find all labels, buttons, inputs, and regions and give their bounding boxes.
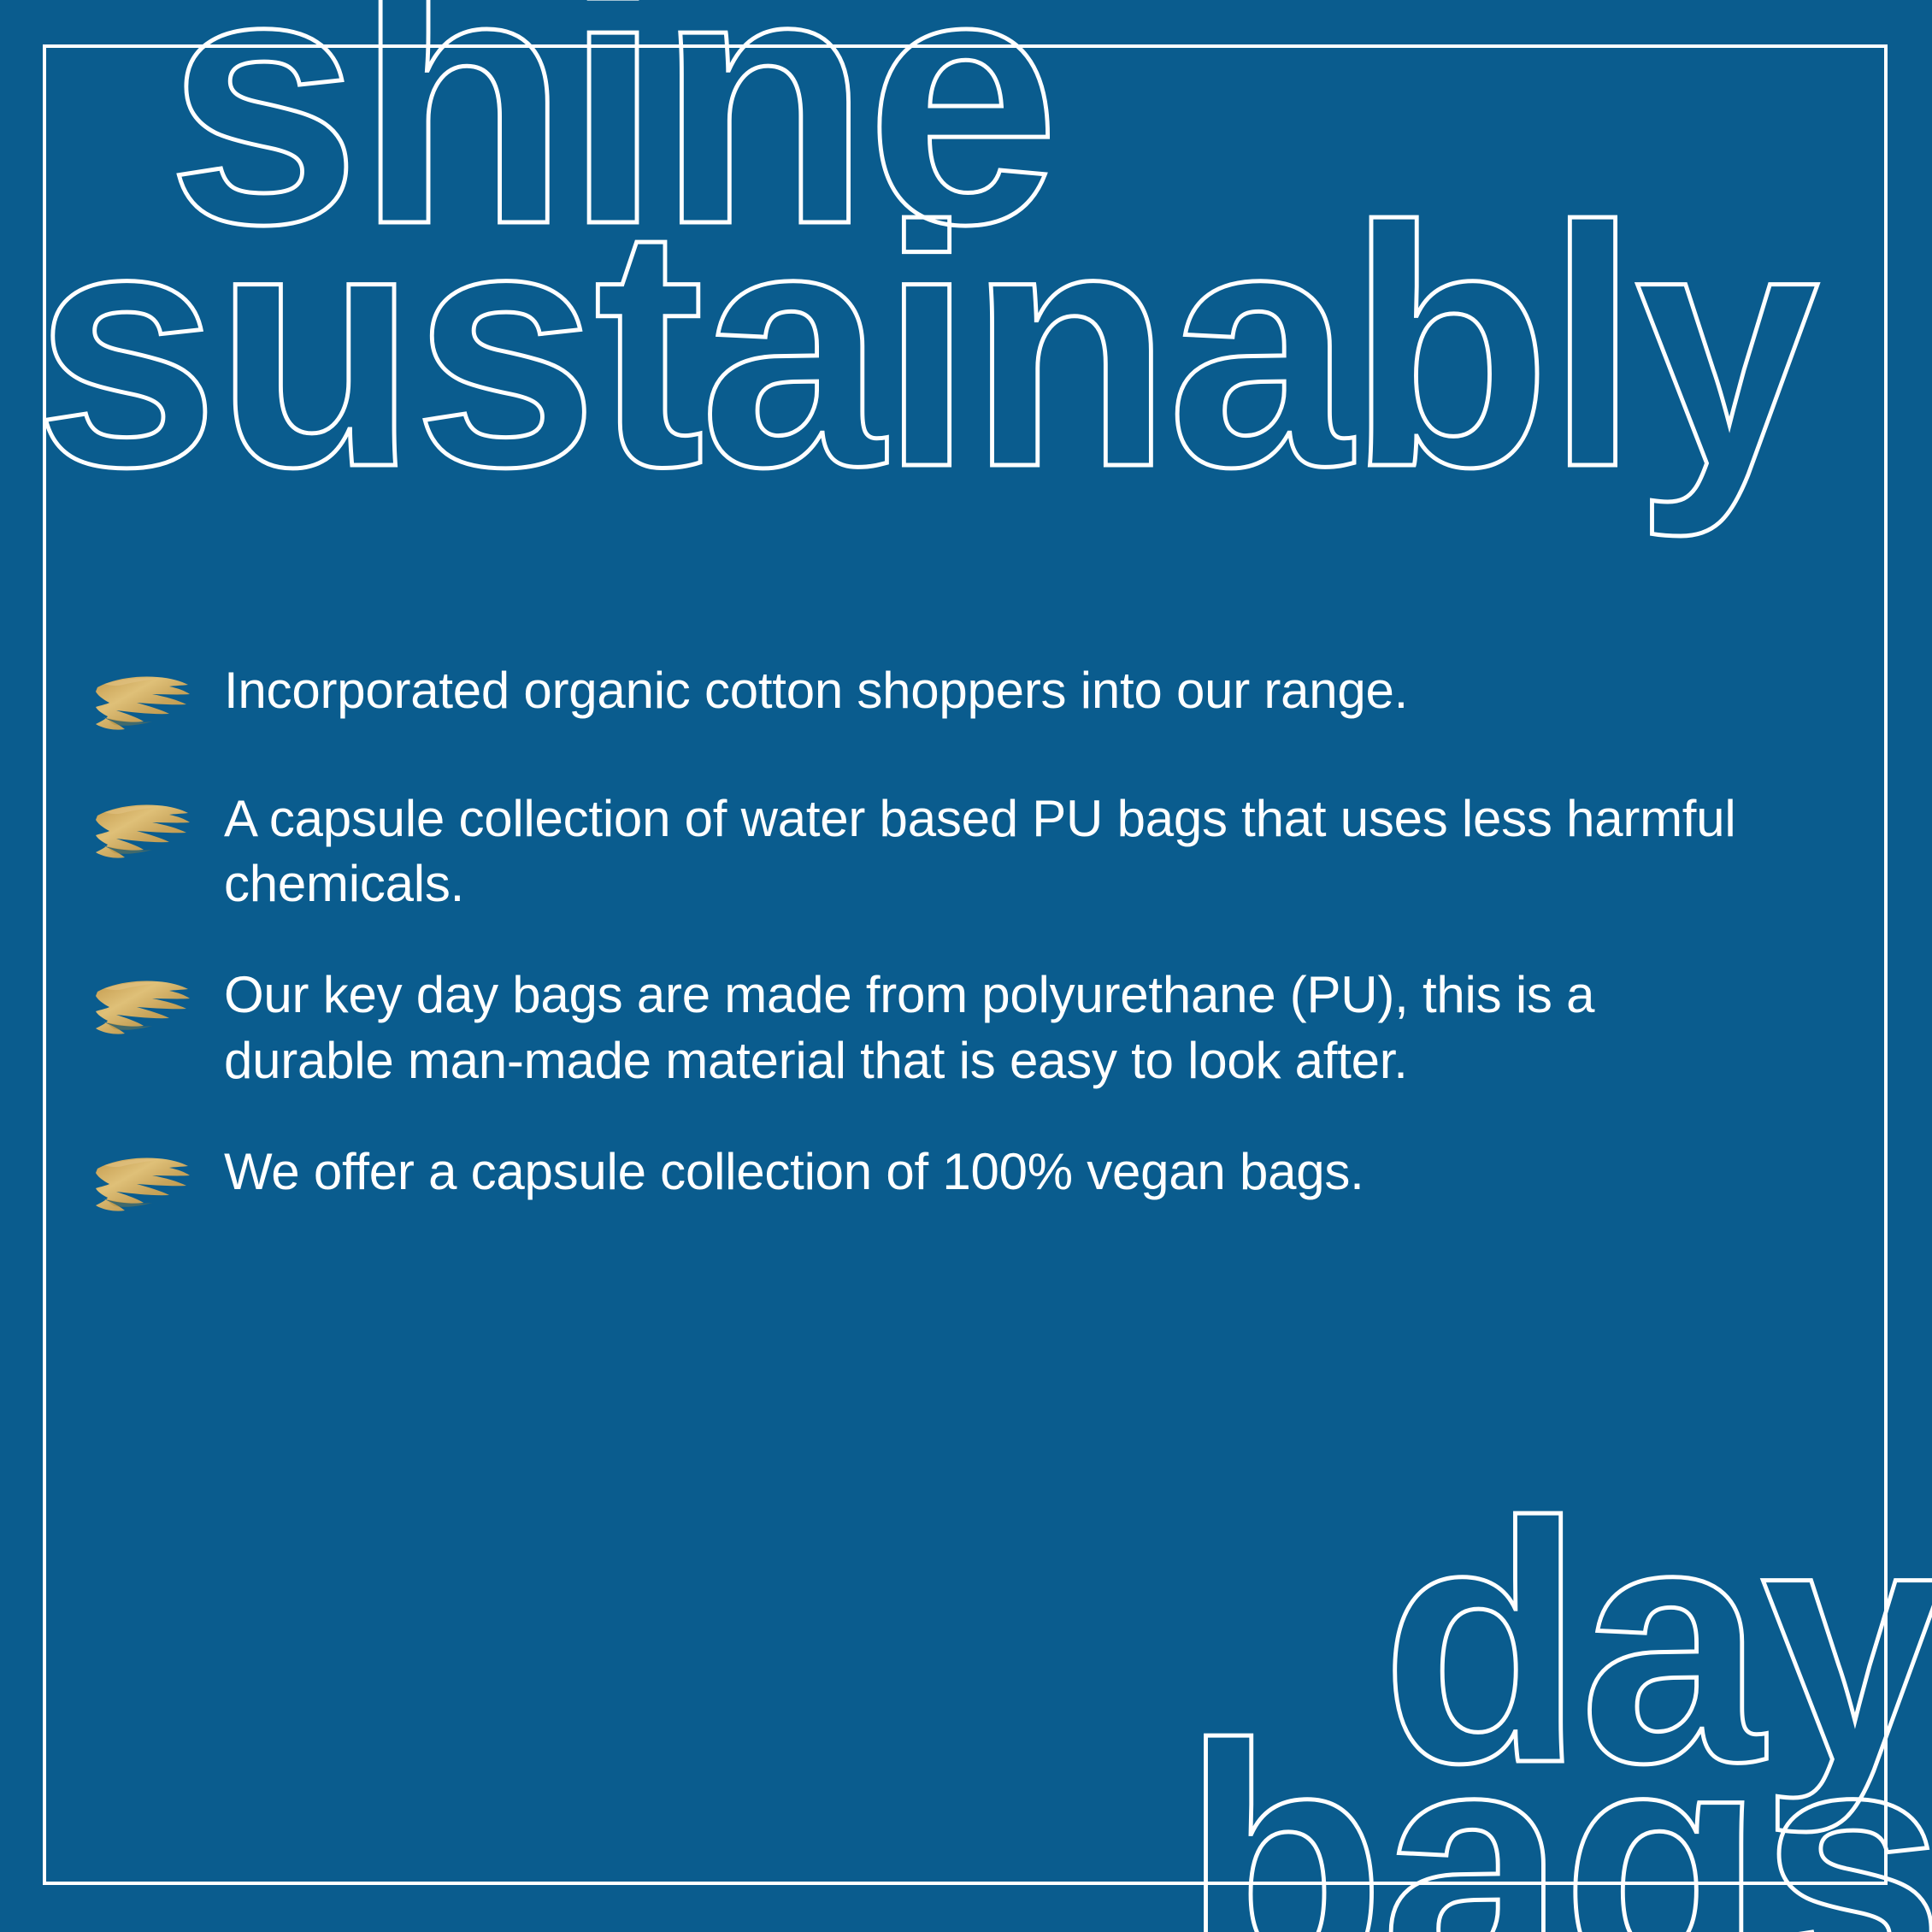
footer-wordmark: day bags <box>1159 1510 1932 1932</box>
list-item: Incorporated organic cotton shoppers int… <box>92 658 1751 740</box>
gold-brush-stroke-icon <box>92 802 197 869</box>
list-item-label: Our key day bags are made from polyureth… <box>224 963 1751 1093</box>
feature-list: Incorporated organic cotton shoppers int… <box>92 658 1751 1268</box>
list-item-label: Incorporated organic cotton shoppers int… <box>224 658 1751 723</box>
headline-line-2: sustainably <box>34 210 1816 484</box>
gold-brush-stroke-icon <box>92 978 197 1045</box>
footer-line-2: bags <box>1182 1732 1932 1932</box>
gold-brush-stroke-icon <box>92 1155 197 1222</box>
list-item: A capsule collection of water based PU b… <box>92 786 1751 916</box>
gold-brush-stroke-icon <box>92 674 197 740</box>
list-item: Our key day bags are made from polyureth… <box>92 963 1751 1093</box>
list-item-label: We offer a capsule collection of 100% ve… <box>224 1140 1751 1205</box>
list-item-label: A capsule collection of water based PU b… <box>224 786 1751 916</box>
list-item: We offer a capsule collection of 100% ve… <box>92 1140 1751 1222</box>
poster-canvas: shine sustainably <box>0 0 1932 1932</box>
page-title: shine sustainably <box>34 0 1870 484</box>
